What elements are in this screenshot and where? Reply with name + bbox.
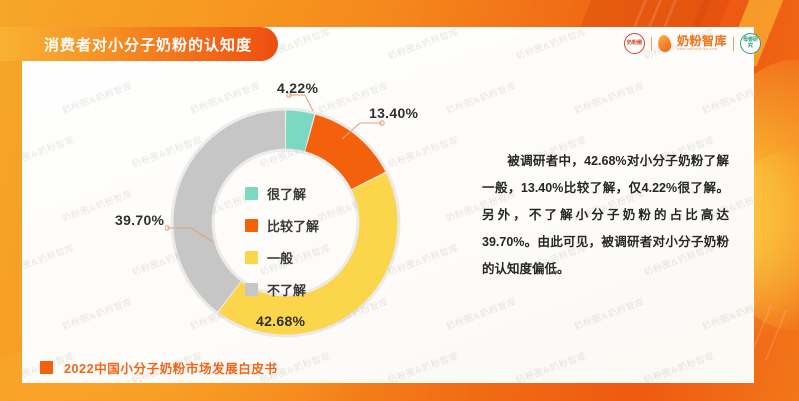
footer-square-icon: [40, 361, 53, 374]
leader-line-unknown: [165, 224, 219, 246]
leader-line-fairly: [338, 119, 386, 143]
legend-item[interactable]: 很了解: [245, 184, 319, 203]
leader-line-very: [283, 93, 323, 121]
droplet-icon: [656, 34, 672, 53]
value-label-very: 4.22%: [277, 80, 318, 96]
logo-divider-1: [651, 37, 652, 51]
chart-legend: 很了解比较了解一般不了解: [245, 184, 319, 299]
slide-root: 奶粉圈&奶粉智库奶粉圈&奶粉智库奶粉圈&奶粉智库奶粉圈&奶粉智库奶粉圈&奶粉智库…: [0, 0, 799, 401]
footer-title: 2022中国小分子奶粉市场发展白皮书: [64, 358, 278, 377]
legend-item[interactable]: 一般: [245, 248, 319, 267]
brand-wordmark: 奶粉智库 www.naifenzhiku.com: [677, 35, 727, 51]
summary-paragraph: 被调研者中，42.68%对小分子奶粉了解一般，13.40%比较了解，仅4.22%…: [482, 148, 729, 283]
legend-label: 一般: [267, 248, 293, 267]
page-title: 消费者对小分子奶粉的认知度: [0, 27, 278, 61]
naifenquan-badge-text: 奶粉圈: [627, 41, 642, 46]
research-badge-text: 母婴研究: [741, 38, 760, 49]
value-label-fairly: 13.40%: [369, 105, 418, 121]
legend-swatch-icon: [245, 251, 258, 264]
brand-url: www.naifenzhiku.com: [677, 48, 727, 51]
legend-label: 比较了解: [267, 216, 319, 235]
value-label-general: 42.68%: [256, 313, 305, 329]
brand-name: 奶粉智库: [677, 35, 727, 47]
legend-label: 不了解: [267, 280, 306, 299]
page-title-text: 消费者对小分子奶粉的认知度: [44, 34, 252, 55]
summary-paragraph-text: 被调研者中，42.68%对小分子奶粉了解一般，13.40%比较了解，仅4.22%…: [482, 154, 729, 276]
footer: 2022中国小分子奶粉市场发展白皮书: [40, 358, 278, 377]
legend-swatch-icon: [245, 283, 258, 296]
legend-item[interactable]: 比较了解: [245, 216, 319, 235]
naifenquan-badge-icon: 奶粉圈: [624, 33, 645, 54]
value-label-unknown: 39.70%: [115, 212, 164, 228]
legend-swatch-icon: [245, 219, 258, 232]
research-badge-icon: 母婴研究: [740, 33, 761, 54]
legend-label: 很了解: [267, 184, 306, 203]
logo-divider-2: [733, 37, 734, 51]
legend-item[interactable]: 不了解: [245, 280, 319, 299]
legend-swatch-icon: [245, 187, 258, 200]
logo-row: 奶粉圈 奶粉智库 www.naifenzhiku.com 母婴研究: [624, 33, 761, 54]
